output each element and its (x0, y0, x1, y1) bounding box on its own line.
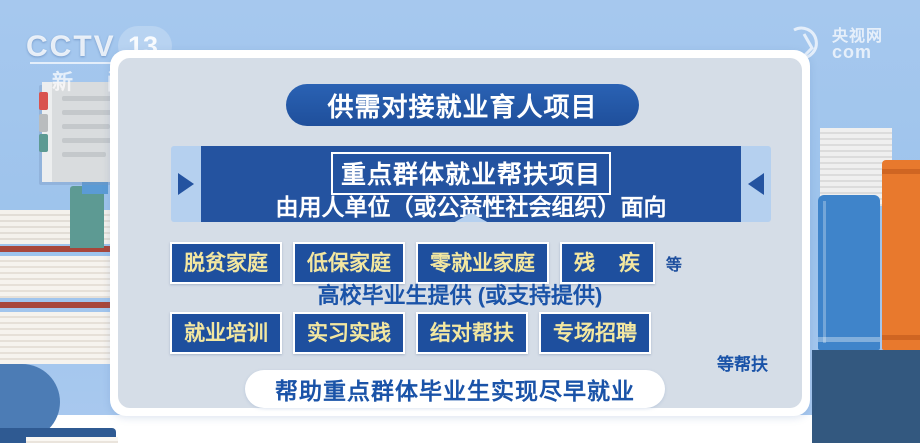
target-groups-suffix: 等 (666, 251, 682, 275)
book-red-edge-2 (0, 302, 110, 308)
banner-body: 重点群体就业帮扶项目 由用人单位（或公益性社会组织）面向 (201, 146, 741, 222)
cctv-logo: CCTV (26, 30, 116, 64)
book-spine-orange (882, 160, 920, 350)
navy-book-bottom (0, 428, 116, 443)
support-measure-tag: 专场招聘 (539, 312, 651, 354)
support-measure-tag: 实习实践 (293, 312, 405, 354)
bookshelf-base (812, 350, 920, 443)
support-measures-row: 就业培训 实习实践 结对帮扶 专场招聘 (170, 312, 662, 354)
standing-books-illustration (812, 60, 920, 443)
stacked-books-illustration (0, 60, 120, 443)
book-spine-blue (818, 195, 880, 350)
book-pages-stack-3 (0, 312, 110, 364)
teal-book (70, 186, 104, 248)
background-bottom-bar (0, 415, 920, 443)
watermark-domain-label: com (832, 42, 872, 63)
highlight-banner: 重点群体就业帮扶项目 由用人单位（或公益性社会组织）面向 (171, 146, 771, 228)
footer-text: 帮助重点群体毕业生实现尽早就业 (275, 372, 635, 406)
triangle-right-icon (178, 173, 194, 195)
broadcast-screen: CCTV 13 新 闻 央视网 com 供需对接就业育人项目 重点群体就业帮扶项… (0, 0, 920, 443)
program-title: 供需对接就业育人项目 (327, 87, 597, 124)
infographic-panel: 供需对接就业育人项目 重点群体就业帮扶项目 由用人单位（或公益性社会组织）面向 … (118, 58, 802, 408)
middle-description: 高校毕业生提供 (或支持提供) (118, 278, 802, 310)
book-pages-stack-2 (0, 256, 110, 298)
program-title-pill: 供需对接就业育人项目 (286, 84, 639, 126)
footer-pill: 帮助重点群体毕业生实现尽早就业 (245, 370, 665, 408)
infographic-card: 供需对接就业育人项目 重点群体就业帮扶项目 由用人单位（或公益性社会组织）面向 … (110, 50, 810, 416)
support-measure-tag: 结对帮扶 (416, 312, 528, 354)
triangle-left-icon (748, 173, 764, 195)
support-measure-tag: 就业培训 (170, 312, 282, 354)
